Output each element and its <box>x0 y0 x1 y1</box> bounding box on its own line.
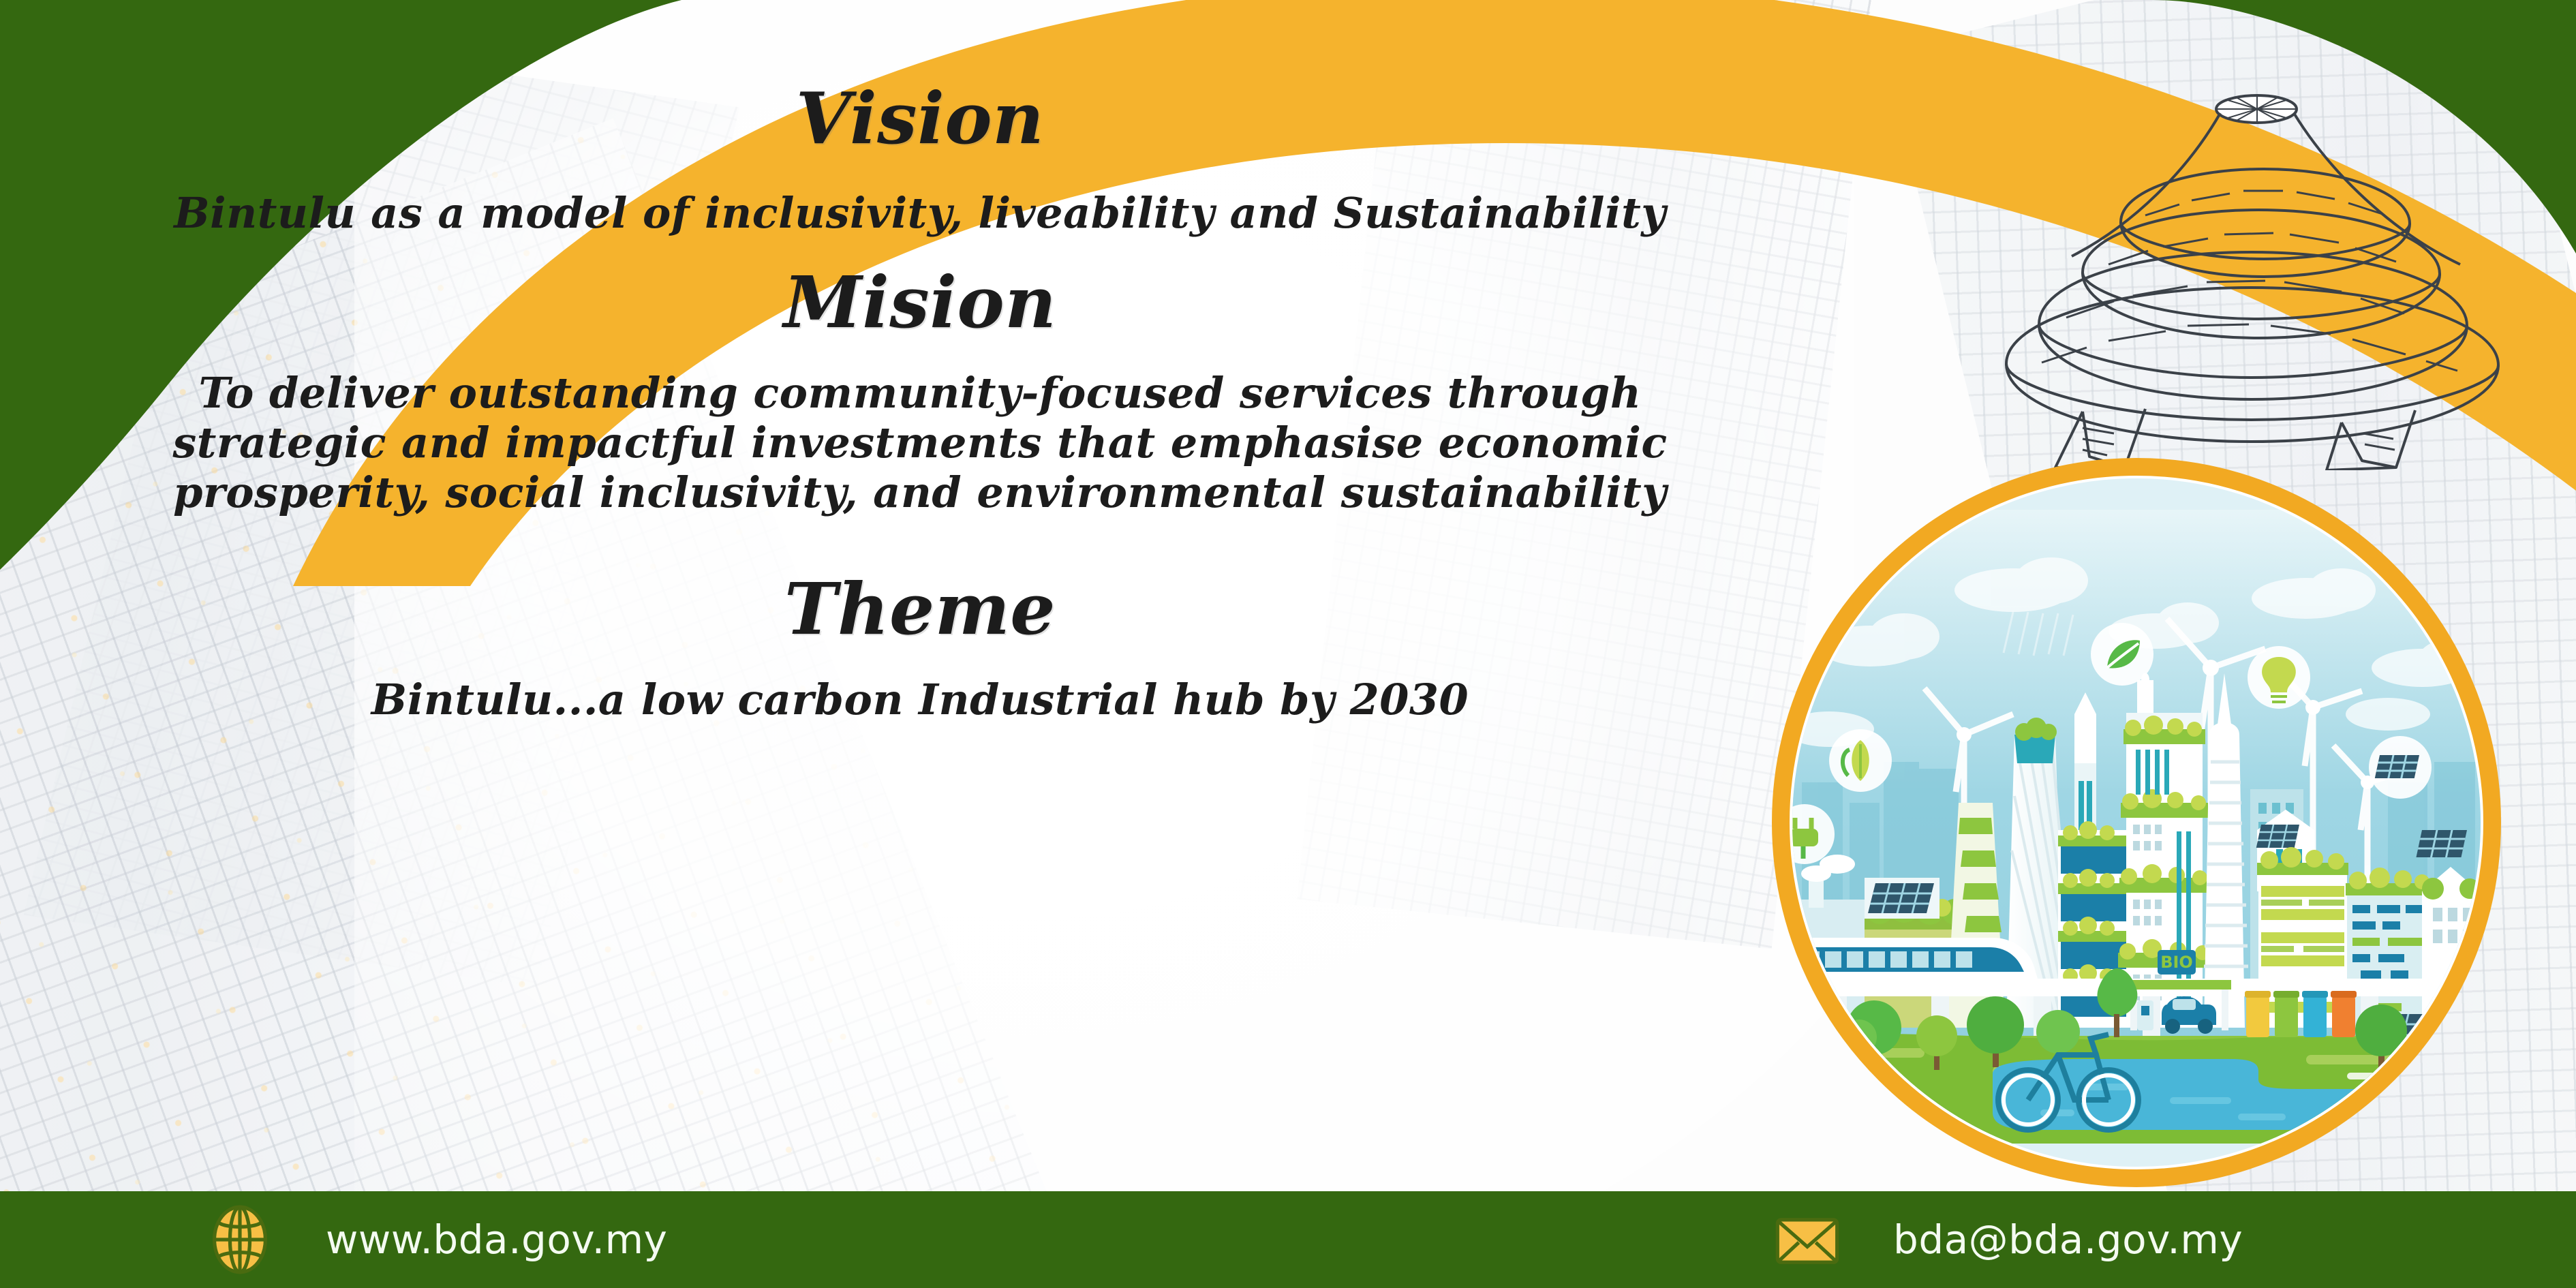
contact-footer: www.bda.gov.my bda@bda.gov.my <box>0 1191 2576 1288</box>
globe-icon <box>204 1204 275 1275</box>
footer-website[interactable]: www.bda.gov.my <box>204 1191 667 1288</box>
green-smart-city-illustration: BIO <box>1792 510 2481 1144</box>
mission-line-3: prosperity, social inclusivity, and envi… <box>0 467 1840 517</box>
theme-line-1: Bintulu...a low carbon Industrial hub by… <box>0 675 1840 724</box>
email-label: bda@bda.gov.my <box>1893 1216 2243 1263</box>
mission-body: To deliver outstanding community-focused… <box>0 368 1840 517</box>
mission-line-1: To deliver outstanding community-focused… <box>0 368 1840 418</box>
theme-body: Bintulu...a low carbon Industrial hub by… <box>0 675 1840 724</box>
envelope-icon <box>1772 1204 1843 1275</box>
svg-text:BIO: BIO <box>2160 953 2193 972</box>
footer-email[interactable]: bda@bda.gov.my <box>1772 1191 2243 1288</box>
bintulu-civic-centre-icon <box>1963 89 2562 470</box>
circle-image-clip: BIO <box>1792 478 2481 1167</box>
theme-title-text: Theme <box>0 574 1840 645</box>
vision-body: Bintulu as a model of inclusivity, livea… <box>0 188 1840 238</box>
banner-canvas: Vision Bintulu as a model of inclusivity… <box>0 0 2576 1288</box>
vision-title-text: Vision <box>0 83 1840 154</box>
mission-title-text: Mision <box>0 267 1840 338</box>
smart-city-circle: BIO <box>1772 458 2501 1187</box>
theme-heading: Theme <box>0 574 1840 645</box>
vision-heading: Vision <box>0 83 1840 154</box>
mission-line-2: strategic and impactful investments that… <box>0 418 1840 467</box>
text-content: Vision Bintulu as a model of inclusivity… <box>0 0 1840 1186</box>
mission-heading: Mision <box>0 267 1840 338</box>
vision-line-1: Bintulu as a model of inclusivity, livea… <box>0 188 1840 238</box>
website-label: www.bda.gov.my <box>326 1216 667 1263</box>
